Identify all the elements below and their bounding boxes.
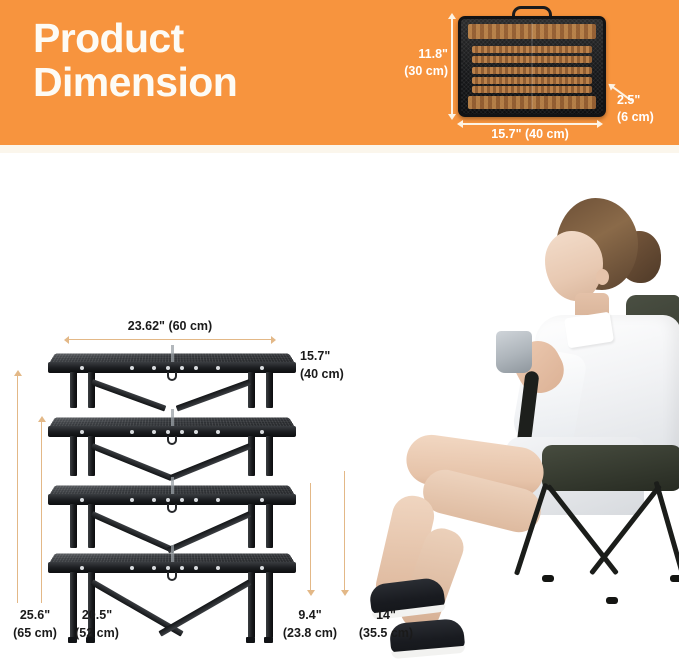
bag-height-dimension-arrow xyxy=(451,18,453,115)
header-underline-strip xyxy=(0,145,679,153)
bag-depth-imperial: 2.5" xyxy=(617,92,654,109)
table-leg xyxy=(70,372,77,408)
table-leg xyxy=(70,436,77,476)
page-title-line-2: Dimension xyxy=(33,61,363,105)
product-dimension-infographic: Product Dimension 11.8" (30 cm) 15.7" (4… xyxy=(0,0,679,664)
tabletop-hook-ring xyxy=(167,572,177,581)
table-stack-illustration xyxy=(48,345,296,610)
bag-depth-label: 2.5" (6 cm) xyxy=(617,92,654,126)
height-2-dimension-arrow xyxy=(41,421,42,603)
table-brace xyxy=(176,379,251,411)
tabletop-hook-ring xyxy=(167,372,177,381)
cup xyxy=(496,331,532,373)
chair-foot xyxy=(670,575,679,582)
table-brace xyxy=(169,443,251,481)
table-width-dimension-arrow xyxy=(68,339,272,340)
height-1-dimension-arrow xyxy=(17,375,18,603)
bag-height-metric: (30 cm) xyxy=(400,63,448,80)
chair-foot xyxy=(542,575,554,582)
table-depth-imperial: 15.7" xyxy=(300,347,344,365)
table-depth-metric: (40 cm) xyxy=(300,365,344,383)
face xyxy=(545,231,603,301)
height-2-imperial: 20.5" xyxy=(62,606,132,624)
height-4-imperial: 14" xyxy=(338,606,434,624)
bag-height-label: 11.8" (30 cm) xyxy=(400,46,448,80)
height-3-dimension-arrow xyxy=(310,483,311,591)
page-title-line-1: Product xyxy=(33,17,363,61)
table-leg xyxy=(266,372,273,408)
ear xyxy=(596,269,609,285)
table-width-label: 23.62" (60 cm) xyxy=(68,317,272,335)
table-brace xyxy=(167,511,252,553)
carry-bag-illustration: 11.8" (30 cm) 15.7" (40 cm) 2.5" (6 cm) xyxy=(400,0,679,145)
height-4-dimension-arrow xyxy=(344,471,345,591)
table-leg xyxy=(248,372,255,408)
bag-center-seam xyxy=(531,23,533,110)
height-4-metric: (35.5 cm) xyxy=(338,624,434,642)
table-foot xyxy=(246,637,255,643)
tabletop-hook-ring xyxy=(167,504,177,513)
lifestyle-photo xyxy=(370,183,679,664)
table-leg xyxy=(266,436,273,476)
table-brace xyxy=(158,579,251,636)
height-2-label: 20.5" (52 cm) xyxy=(62,606,132,642)
tabletop-hook-ring xyxy=(167,436,177,445)
table-leg xyxy=(248,504,255,548)
height-1-label: 25.6" (65 cm) xyxy=(0,606,70,642)
table-brace xyxy=(91,379,166,411)
bag-width-dimension-arrow xyxy=(462,123,598,125)
height-1-imperial: 25.6" xyxy=(0,606,70,624)
chair-leg-bar xyxy=(654,481,679,579)
table-leg xyxy=(266,504,273,548)
height-4-label: 14" (35.5 cm) xyxy=(338,606,434,642)
bag-depth-metric: (6 cm) xyxy=(617,109,654,126)
table-brace xyxy=(91,443,173,481)
table-depth-label: 15.7" (40 cm) xyxy=(300,347,344,383)
main-content-area: 23.62" (60 cm) 15.7" (40 cm) 25.6" (65 c… xyxy=(0,153,679,664)
table-leg xyxy=(88,372,95,408)
table-brace xyxy=(91,511,176,553)
carry-bag-body xyxy=(458,16,606,117)
chair-foot xyxy=(606,597,618,604)
height-1-metric: (65 cm) xyxy=(0,624,70,642)
bag-height-imperial: 11.8" xyxy=(400,46,448,63)
table-leg xyxy=(70,504,77,548)
table-leg xyxy=(248,436,255,476)
bag-width-label: 15.7" (40 cm) xyxy=(462,126,598,143)
page-title: Product Dimension xyxy=(33,17,363,105)
height-2-metric: (52 cm) xyxy=(62,624,132,642)
table-leg xyxy=(88,436,95,476)
